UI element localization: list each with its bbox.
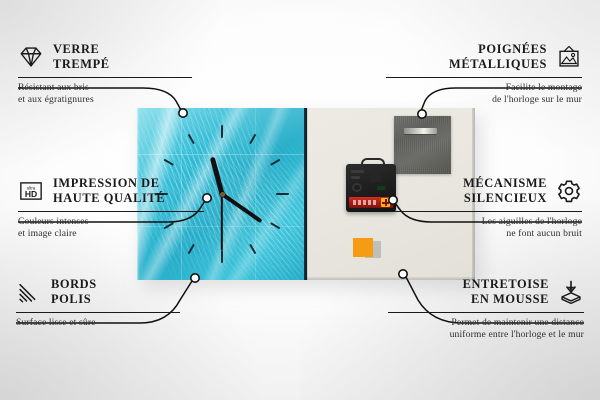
callout-impression-haute-qualite: ultra HD IMPRESSION DE HAUTE QUALITÉ Cou… [18,176,208,240]
clock-tick [249,244,256,255]
clock-tick [163,159,174,166]
callout-heading-row: MÉCANISME SILENCIEUX [382,176,582,206]
clock-tick [270,159,281,166]
clock-tick [221,125,223,138]
callout-rule [16,312,180,313]
callout-title-line2: TREMPÉ [53,57,110,72]
callout-verre-trempe: VERRE TREMPÉ Résistant aux bris et aux é… [18,42,198,106]
picture-hanger-icon [556,44,582,70]
callout-title-line2: SILENCIEUX [382,191,547,206]
callout-sub-line2: et image claire [18,228,208,240]
callout-title-line1: IMPRESSION DE [53,176,165,191]
callout-heading-row: ENTRETOISE EN MOUSSE [384,277,584,307]
callout-heading-row: POIGNÉES MÉTALLIQUES [382,42,582,72]
clock-tick [188,244,195,255]
clock-tick [188,134,195,145]
callout-rule [18,211,204,212]
callout-rule [386,211,582,212]
foam-spacer [353,238,373,257]
callout-sub-line1: Surface lisse et sûre [16,317,186,329]
infographic-canvas: VERRE TREMPÉ Résistant aux bris et aux é… [0,0,600,400]
callout-title-line2: POLIS [51,292,97,307]
callout-rule [18,77,192,78]
clock-tick [221,250,223,263]
callout-rule [388,312,584,313]
callout-rule [386,77,582,78]
callout-title-line1: VERRE [53,42,110,57]
metal-hanging-plate [394,116,451,174]
callout-sub-line1: Permet de maintenir une distance [384,317,584,329]
callout-bords-polis: BORDS POLIS Surface lisse et sûre [16,277,186,329]
callout-title-line2: EN MOUSSE [384,292,549,307]
clock-second-hand [221,192,223,250]
callout-sub-line2: ne font aucun bruit [382,228,582,240]
polished-edges-icon [16,279,42,305]
callout-heading-row: ultra HD IMPRESSION DE HAUTE QUALITÉ [18,176,208,206]
callout-sub-line2: de l'horloge sur le mur [382,94,582,106]
clock-hub [220,192,225,197]
clock-tick [249,134,256,145]
ultra-hd-icon: ultra HD [18,178,44,204]
callout-title-line2: HAUTE QUALITÉ [53,191,165,206]
mechanism-hanging-loop [361,158,385,169]
clock-hour-hand [210,157,225,197]
metal-plate-slot [404,128,437,134]
clock-tick [276,193,289,195]
callout-sub-line2: uniforme entre l'horloge et le mur [384,329,584,341]
clock-minute-hand [219,191,262,223]
callout-heading-row: BORDS POLIS [16,277,186,307]
callout-poignees-metalliques: POIGNÉES MÉTALLIQUES Facilite le montage… [382,42,582,106]
ultra-hd-icon-bottom-text: HD [25,189,37,199]
callout-title-line1: BORDS [51,277,97,292]
callout-entretoise-en-mousse: ENTRETOISE EN MOUSSE Permet de maintenir… [384,277,584,341]
gear-icon [556,178,582,204]
callout-title-line1: POIGNÉES [382,42,547,57]
callout-mecanisme-silencieux: MÉCANISME SILENCIEUX Les aiguilles de l'… [382,176,582,240]
callout-sub-line1: Résistant aux bris [18,82,198,94]
clock-tick [270,222,281,229]
callout-sub-line2: et aux égratignures [18,94,198,106]
foam-spacer-icon [558,279,584,305]
callout-title-line1: ENTRETOISE [384,277,549,292]
callout-title-line1: MÉCANISME [382,176,547,191]
callout-sub-line1: Les aiguilles de l'horloge [382,216,582,228]
callout-sub-line1: Facilite le montage [382,82,582,94]
callout-heading-row: VERRE TREMPÉ [18,42,198,72]
callout-title-line2: MÉTALLIQUES [382,57,547,72]
callout-sub-line1: Couleurs intenses [18,216,208,228]
diamond-icon [18,44,44,70]
